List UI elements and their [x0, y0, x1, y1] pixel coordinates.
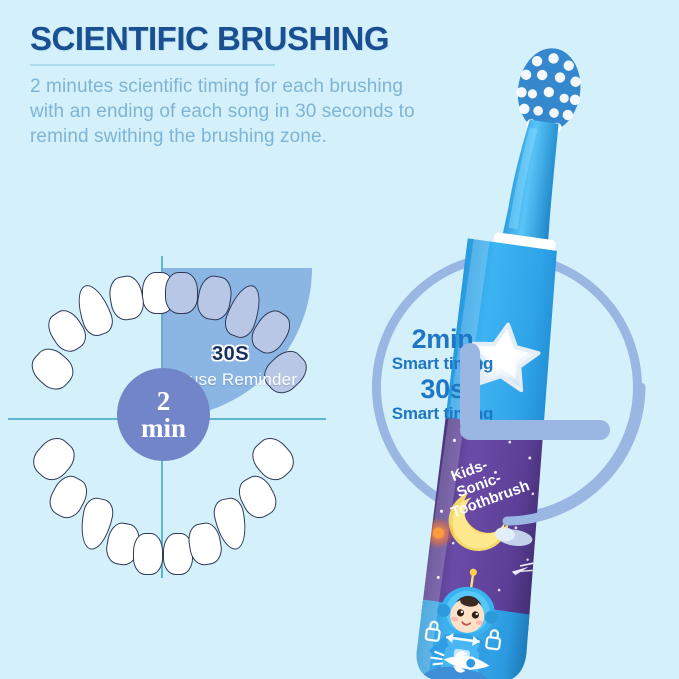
subtitle-line-2: with an ending of each song in 30 second… [30, 99, 500, 124]
label-30s: 30s [380, 375, 505, 404]
lock-icon-left [426, 621, 441, 641]
bubble-unit: min [141, 415, 186, 441]
arrow-icon [445, 632, 480, 647]
brush-head [511, 48, 587, 137]
lock-icon-right [486, 629, 501, 649]
tooth-lower-left-1 [133, 533, 163, 575]
infographic-canvas: SCIENTIFIC BRUSHING 2 minutes scientific… [0, 0, 679, 679]
label-smart-timing-1: Smart timing [380, 354, 505, 374]
bubble-number: 2 [157, 388, 171, 414]
two-minute-bubble: 2 min [117, 368, 210, 461]
handle-bottom-icons [426, 621, 502, 650]
rocket-icon [430, 647, 491, 677]
page-title: SCIENTIFIC BRUSHING [30, 22, 500, 57]
timing-label-stack: 2min Smart timing 30s Smart timing [380, 325, 505, 424]
tooth-upper-left-2 [106, 273, 146, 322]
subtitle-text: 2 minutes scientific timing for each bru… [30, 74, 500, 149]
holder-clip-band [460, 420, 610, 440]
earth-planet [411, 661, 501, 679]
header-block: SCIENTIFIC BRUSHING 2 minutes scientific… [30, 22, 500, 149]
brush-neck [503, 118, 565, 241]
subtitle-line-1: 2 minutes scientific timing for each bru… [30, 74, 500, 99]
tooth-upper-right-1 [165, 272, 198, 314]
quadrant-30s-label: 30S [163, 343, 298, 366]
label-2min: 2min [380, 325, 505, 354]
subtitle-line-3: remind swithing the brushing zone. [30, 124, 500, 149]
title-divider [30, 64, 275, 66]
